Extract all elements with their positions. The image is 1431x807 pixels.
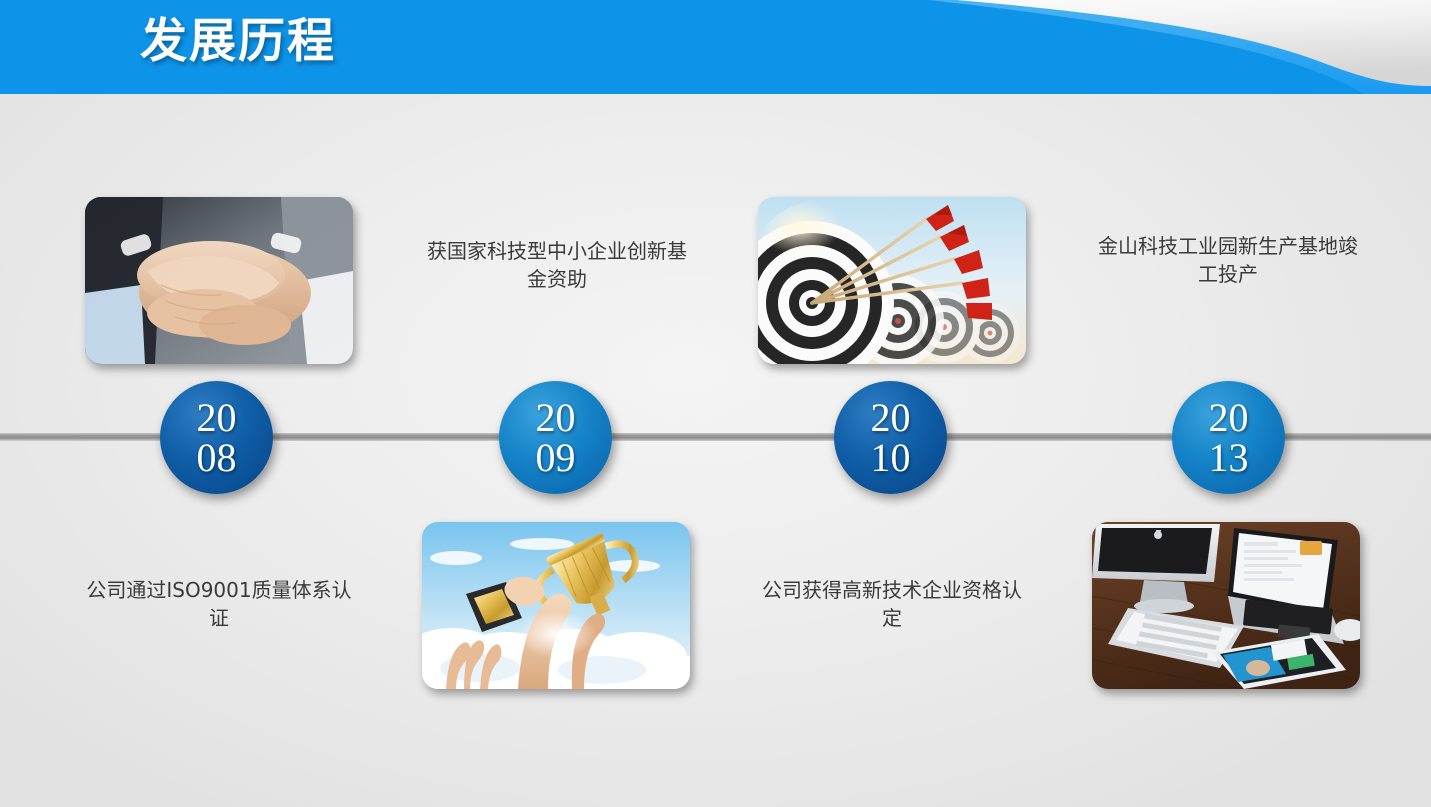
year-top-2008: 20 bbox=[197, 398, 237, 437]
trophy-hands-photo bbox=[422, 522, 690, 689]
caption-2009: 获国家科技型中小企业创新基金资助 bbox=[418, 238, 696, 293]
desk-computers-photo bbox=[1092, 522, 1360, 689]
page-title: 发展历程 bbox=[140, 13, 336, 72]
year-bubble-2013[interactable]: 20 13 bbox=[1172, 381, 1285, 494]
year-bubble-2008[interactable]: 20 08 bbox=[160, 381, 273, 494]
header-swoosh-decoration bbox=[621, 0, 1431, 94]
year-bubble-2009[interactable]: 20 09 bbox=[499, 381, 612, 494]
slide-header: 发展历程 bbox=[0, 0, 1431, 94]
slide-root: 发展历程 bbox=[0, 0, 1431, 807]
caption-2008: 公司通过ISO9001质量体系认证 bbox=[80, 577, 358, 632]
year-bottom-2009: 09 bbox=[536, 438, 576, 477]
year-top-2013: 20 bbox=[1209, 398, 1249, 437]
year-bottom-2013: 13 bbox=[1209, 438, 1249, 477]
year-bottom-2008: 08 bbox=[197, 438, 237, 477]
year-bubble-2010[interactable]: 20 10 bbox=[834, 381, 947, 494]
archery-target-arrows-photo bbox=[758, 197, 1026, 364]
caption-2013: 金山科技工业园新生产基地竣工投产 bbox=[1089, 233, 1367, 288]
caption-2010: 公司获得高新技术企业资格认定 bbox=[753, 577, 1031, 632]
teamwork-hands-photo bbox=[85, 197, 353, 364]
year-bottom-2010: 10 bbox=[871, 438, 911, 477]
year-top-2010: 20 bbox=[871, 398, 911, 437]
year-top-2009: 20 bbox=[536, 398, 576, 437]
